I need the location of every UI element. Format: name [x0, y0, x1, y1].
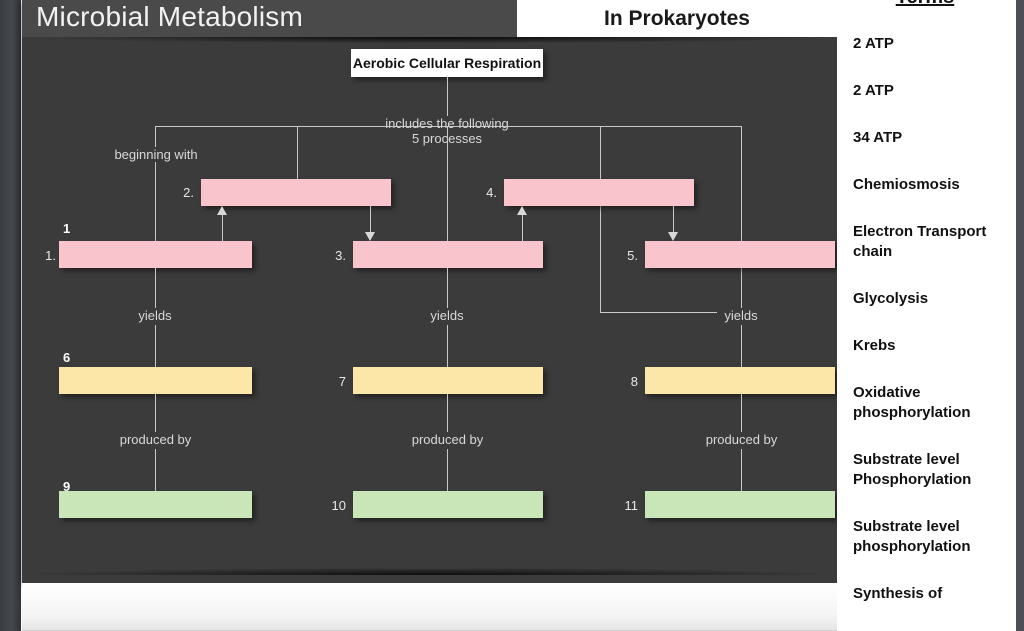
connector-8-producedby-stem-b [741, 449, 742, 491]
screenshot-root: Microbial Metabolism In Prokaryotes Aero… [0, 0, 1024, 631]
node-10-box[interactable] [353, 491, 543, 518]
edge-label-beginning-with: beginning with [106, 147, 206, 162]
connector-4-elbow [600, 312, 717, 313]
terms-heading: Terms [837, 0, 1013, 9]
node-6-box[interactable] [59, 367, 252, 394]
edge-label-yields-1: yields [131, 308, 179, 323]
edge-label-yields-5: yields [717, 308, 765, 323]
arrow-2-to-3-head [365, 232, 375, 241]
slide-panel: Microbial Metabolism In Prokaryotes Aero… [22, 0, 837, 583]
connector-3-yields-stem [447, 268, 448, 308]
connector-drop-1b [155, 163, 156, 248]
node-3-box[interactable] [353, 241, 543, 268]
node-1-number: 1. [32, 248, 56, 263]
term-item[interactable]: 2 ATP [853, 34, 1013, 54]
connector-distribution-bar [155, 126, 742, 127]
subtitle-text: In Prokaryotes [604, 7, 750, 31]
node-8-number: 8 [616, 374, 638, 389]
term-item[interactable]: 34 ATP [853, 128, 1013, 148]
connector-2-to-3 [370, 206, 371, 232]
connector-drop-4 [600, 126, 601, 312]
edge-label-produced-by-1: produced by [111, 432, 200, 447]
connector-4-to-5 [673, 206, 674, 232]
node-root-label: Aerobic Cellular Respiration [353, 55, 541, 71]
window-left-gutter [0, 0, 21, 631]
connector-root-stem [447, 77, 448, 117]
connector-1-yields-stem-b [155, 325, 156, 367]
terms-list: 2 ATP 2 ATP 34 ATP Chemiosmosis Electron… [853, 34, 1013, 631]
page-title: Microbial Metabolism [36, 1, 303, 33]
connector-6-producedby-stem [155, 394, 156, 432]
node-1-box[interactable] [59, 241, 252, 268]
connector-drop-3 [447, 126, 448, 248]
edge-label-produced-by-3: produced by [697, 432, 786, 447]
connector-1-to-2 [222, 215, 223, 241]
node-1-number-above: 1 [63, 221, 70, 236]
connector-5-yields-stem-b [741, 325, 742, 367]
node-9-box[interactable] [59, 491, 252, 518]
edge-label-yields-3: yields [423, 308, 471, 323]
connector-3-to-4 [522, 215, 523, 241]
node-4-number: 4. [473, 185, 497, 200]
term-item[interactable]: Substrate level Phosphorylation [853, 450, 1013, 490]
edge-label-produced-by-2: produced by [403, 432, 492, 447]
node-5-box[interactable] [645, 241, 835, 268]
node-8-box[interactable] [645, 367, 835, 394]
node-2-number: 2. [170, 185, 194, 200]
node-11-number: 11 [610, 498, 638, 513]
vertical-scrollbar[interactable] [1016, 0, 1024, 631]
term-item[interactable]: Substrate level phosphorylation [853, 517, 1013, 557]
node-3-number: 3. [322, 248, 346, 263]
connector-8-producedby-stem [741, 394, 742, 432]
node-7-number: 7 [324, 374, 346, 389]
term-item[interactable]: Glycolysis [853, 289, 1013, 309]
connector-7-producedby-stem [447, 394, 448, 432]
connector-drop-5 [741, 126, 742, 312]
subtitle-box: In Prokaryotes [517, 0, 837, 37]
term-item[interactable]: Krebs [853, 336, 1013, 356]
node-4-box[interactable] [504, 179, 694, 206]
term-item[interactable]: 2 ATP [853, 81, 1013, 101]
connector-6-producedby-stem-b [155, 449, 156, 491]
term-item[interactable]: Chemiosmosis [853, 175, 1013, 195]
concept-map-canvas: Aerobic Cellular Respiration includes th… [22, 43, 837, 575]
node-5-number: 5. [614, 248, 638, 263]
arrow-1-to-2-head [217, 206, 227, 215]
node-root-aerobic-cellular-respiration[interactable]: Aerobic Cellular Respiration [351, 49, 543, 77]
arrow-3-to-4-head [517, 206, 527, 215]
term-item[interactable]: Synthesis of [853, 584, 1013, 604]
connector-1-yields-stem [155, 268, 156, 308]
node-10-number: 10 [318, 498, 346, 513]
term-item[interactable]: Oxidative phosphorylation [853, 383, 1013, 423]
connector-3-yields-stem-b [447, 325, 448, 367]
connector-7-producedby-stem-b [447, 449, 448, 491]
term-item[interactable]: Electron Transport chain [853, 222, 1013, 262]
node-7-box[interactable] [353, 367, 543, 394]
node-2-box[interactable] [201, 179, 391, 206]
terms-panel: Terms 2 ATP 2 ATP 34 ATP Chemiosmosis El… [837, 0, 1024, 631]
slide-below-strip [22, 583, 837, 631]
arrow-4-to-5-head [668, 232, 678, 241]
node-11-box[interactable] [645, 491, 835, 518]
node-6-number-above: 6 [63, 350, 70, 365]
